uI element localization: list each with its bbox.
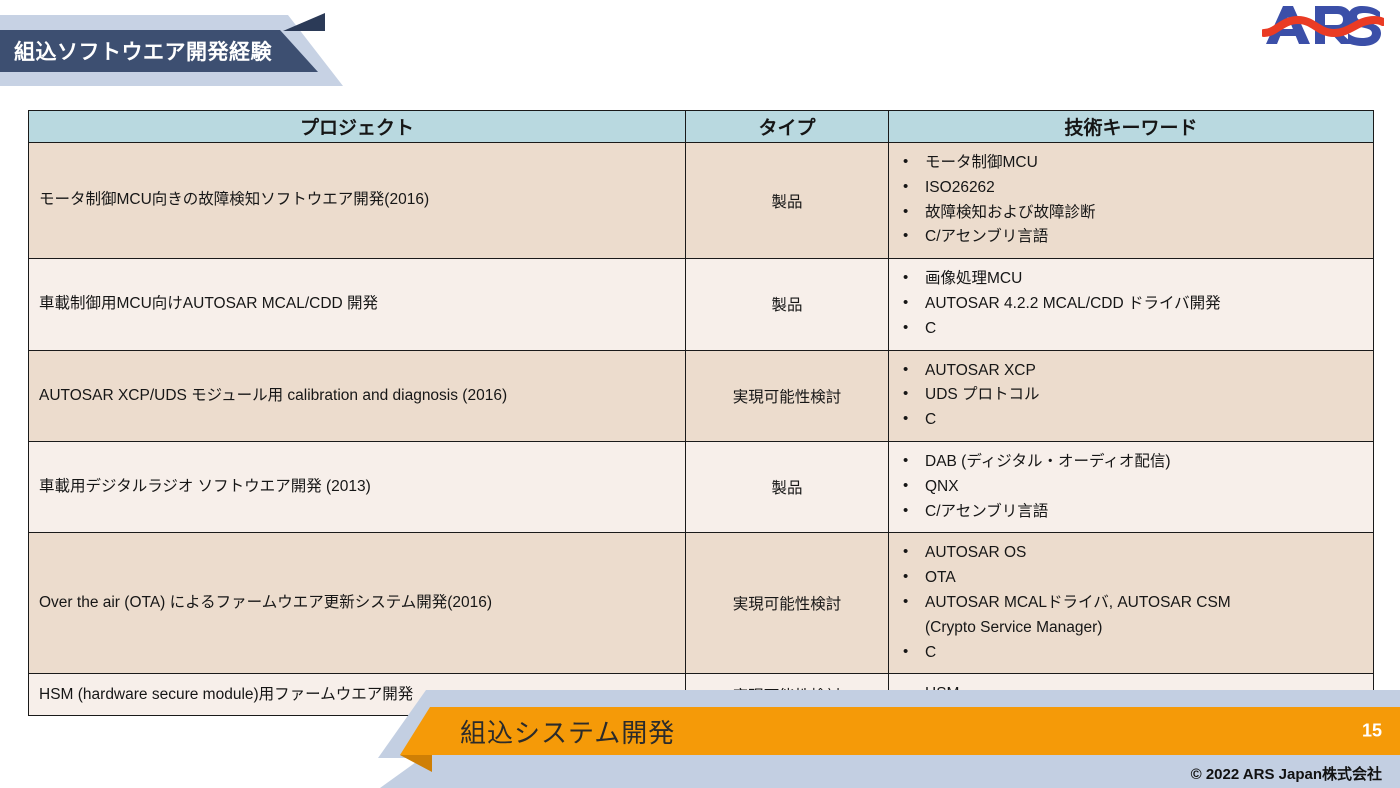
list-item: ISO26262 xyxy=(895,176,1365,201)
keyword-list: AUTOSAR OS OTA AUTOSAR MCALドライバ, AUTOSAR… xyxy=(895,541,1365,665)
list-item: C xyxy=(895,641,1365,666)
slide-footer: 組込システム開発 15 © 2022 ARS Japan株式会社 xyxy=(0,690,1400,788)
copyright-text: © 2022 ARS Japan株式会社 xyxy=(1191,763,1382,784)
list-item: DAB (ディジタル・オーディオ配信) xyxy=(895,450,1365,475)
cell-type: 製品 xyxy=(686,143,889,259)
experience-table-wrapper: プロジェクト タイプ 技術キーワード モータ制御MCU向きの故障検知ソフトウエア… xyxy=(28,110,1373,716)
list-item: QNX xyxy=(895,475,1365,500)
cell-project: 車載制御用MCU向けAUTOSAR MCAL/CDD 開発 xyxy=(29,259,686,350)
cell-type: 製品 xyxy=(686,441,889,532)
cell-project: Over the air (OTA) によるファームウエア更新システム開発(20… xyxy=(29,533,686,674)
table-row: 車載用デジタルラジオ ソフトウエア開発 (2013) 製品 DAB (ディジタル… xyxy=(29,441,1374,532)
cell-tech: AUTOSAR XCP UDS プロトコル C xyxy=(889,350,1374,441)
table-body: モータ制御MCU向きの故障検知ソフトウエア開発(2016) 製品 モータ制御MC… xyxy=(29,143,1374,716)
keyword-list: 画像処理MCU AUTOSAR 4.2.2 MCAL/CDD ドライバ開発 C xyxy=(895,267,1365,341)
list-item: 画像処理MCU xyxy=(895,267,1365,292)
table-header: プロジェクト タイプ 技術キーワード xyxy=(29,111,1374,143)
slide-header: 組込ソフトウエア開発経験 xyxy=(0,0,1400,100)
list-item: AUTOSAR 4.2.2 MCAL/CDD ドライバ開発 xyxy=(895,292,1365,317)
cell-type: 製品 xyxy=(686,259,889,350)
cell-project: 車載用デジタルラジオ ソフトウエア開発 (2013) xyxy=(29,441,686,532)
experience-table: プロジェクト タイプ 技術キーワード モータ制御MCU向きの故障検知ソフトウエア… xyxy=(28,110,1374,716)
cell-project: モータ制御MCU向きの故障検知ソフトウエア開発(2016) xyxy=(29,143,686,259)
list-item: 故障検知および故障診断 xyxy=(895,201,1365,226)
list-item-continuation: (Crypto Service Manager) xyxy=(895,616,1365,641)
ars-logo-icon xyxy=(1262,2,1384,48)
list-item: AUTOSAR XCP xyxy=(895,359,1365,384)
list-item: OTA xyxy=(895,566,1365,591)
list-item: C xyxy=(895,317,1365,342)
cell-tech: 画像処理MCU AUTOSAR 4.2.2 MCAL/CDD ドライバ開発 C xyxy=(889,259,1374,350)
list-item: AUTOSAR OS xyxy=(895,541,1365,566)
header-banner: 組込ソフトウエア開発経験 xyxy=(0,30,318,72)
column-header-type: タイプ xyxy=(686,111,889,143)
cell-tech: モータ制御MCU ISO26262 故障検知および故障診断 C/アセンブリ言語 xyxy=(889,143,1374,259)
table-header-row: プロジェクト タイプ 技術キーワード xyxy=(29,111,1374,143)
column-header-project: プロジェクト xyxy=(29,111,686,143)
table-row: AUTOSAR XCP/UDS モジュール用 calibration and d… xyxy=(29,350,1374,441)
keyword-list: モータ制御MCU ISO26262 故障検知および故障診断 C/アセンブリ言語 xyxy=(895,151,1365,250)
cell-type: 実現可能性検討 xyxy=(686,350,889,441)
cell-type: 実現可能性検討 xyxy=(686,533,889,674)
keyword-list: AUTOSAR XCP UDS プロトコル C xyxy=(895,359,1365,433)
column-header-tech: 技術キーワード xyxy=(889,111,1374,143)
cell-tech: AUTOSAR OS OTA AUTOSAR MCALドライバ, AUTOSAR… xyxy=(889,533,1374,674)
list-item: C/アセンブリ言語 xyxy=(895,500,1365,525)
cell-tech: DAB (ディジタル・オーディオ配信) QNX C/アセンブリ言語 xyxy=(889,441,1374,532)
list-item: モータ制御MCU xyxy=(895,151,1365,176)
footer-section-title: 組込システム開発 xyxy=(400,713,675,750)
ars-logo xyxy=(1262,2,1384,48)
footer-banner: 組込システム開発 15 xyxy=(400,707,1400,755)
table-row: Over the air (OTA) によるファームウエア更新システム開発(20… xyxy=(29,533,1374,674)
list-item: UDS プロトコル xyxy=(895,383,1365,408)
list-item: C/アセンブリ言語 xyxy=(895,225,1365,250)
list-item: C xyxy=(895,408,1365,433)
table-row: 車載制御用MCU向けAUTOSAR MCAL/CDD 開発 製品 画像処理MCU… xyxy=(29,259,1374,350)
page-title: 組込ソフトウエア開発経験 xyxy=(0,36,272,66)
list-item: AUTOSAR MCALドライバ, AUTOSAR CSM xyxy=(895,591,1365,616)
page-number: 15 xyxy=(1362,721,1382,742)
slide: 組込ソフトウエア開発経験 xyxy=(0,0,1400,788)
cell-project: AUTOSAR XCP/UDS モジュール用 calibration and d… xyxy=(29,350,686,441)
table-row: モータ制御MCU向きの故障検知ソフトウエア開発(2016) 製品 モータ制御MC… xyxy=(29,143,1374,259)
keyword-list: DAB (ディジタル・オーディオ配信) QNX C/アセンブリ言語 xyxy=(895,450,1365,524)
